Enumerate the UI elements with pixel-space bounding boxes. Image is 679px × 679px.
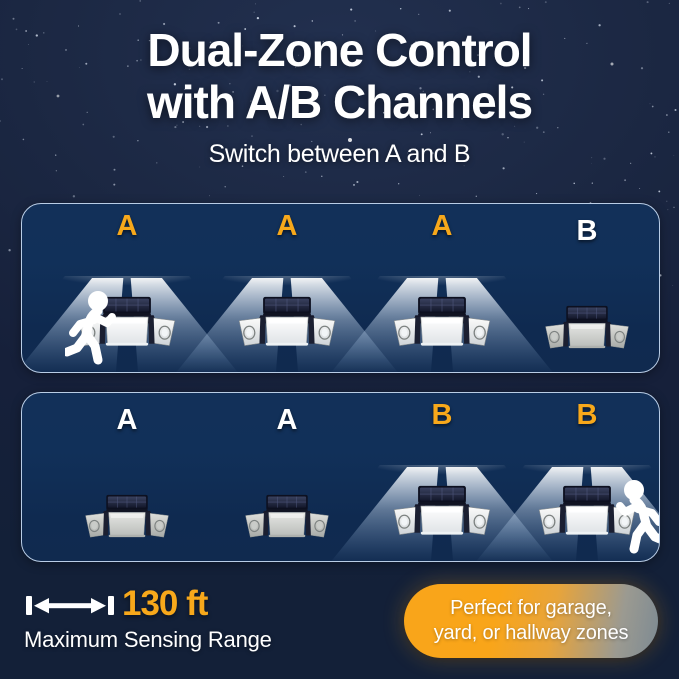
infographic-stage: Dual-Zone Control with A/B Channels Swit… [0,0,679,679]
badge-line-2: yard, or hallway zones [434,622,629,644]
use-case-badge-text: Perfect for garage, yard, or hallway zon… [434,596,629,646]
channel-label-1-1: A [117,212,138,241]
channel-label-1-4: B [577,217,598,246]
channel-label-1-2: A [277,212,298,241]
title-line-1: Dual-Zone Control [147,24,531,76]
sensing-range-block: 130 ft Maximum Sensing Range [24,588,272,653]
double-arrow-measure-icon [24,590,116,620]
zone-row-row-a-active: A [21,203,660,373]
badge-line-1: Perfect for garage, [450,597,612,619]
zone-row-row-b-active: A [21,392,660,562]
light-unit-1-4: B [457,204,660,372]
title-line-2: with A/B Channels [147,76,532,128]
solar-light-fixture [540,304,634,354]
page-title: Dual-Zone Control with A/B Channels [0,24,679,128]
use-case-badge: Perfect for garage, yard, or hallway zon… [404,584,658,658]
channel-label-2-4: B [577,401,598,430]
motion-person-icon [609,479,660,557]
hero-heading-block: Dual-Zone Control with A/B Channels Swit… [0,24,679,169]
channel-label-2-2: A [277,406,298,435]
sensing-range-value: 130 ft [122,588,207,620]
sensing-range-caption: Maximum Sensing Range [24,627,272,653]
motion-person-icon [65,290,123,368]
bottom-feature-bar: 130 ft Maximum Sensing Range Perfect for… [0,580,679,679]
channel-label-2-3: B [432,401,453,430]
page-subtitle: Switch between A and B [0,140,679,169]
channel-label-1-3: A [432,212,453,241]
channel-label-2-1: A [117,406,138,435]
light-unit-2-4: B [457,393,660,561]
